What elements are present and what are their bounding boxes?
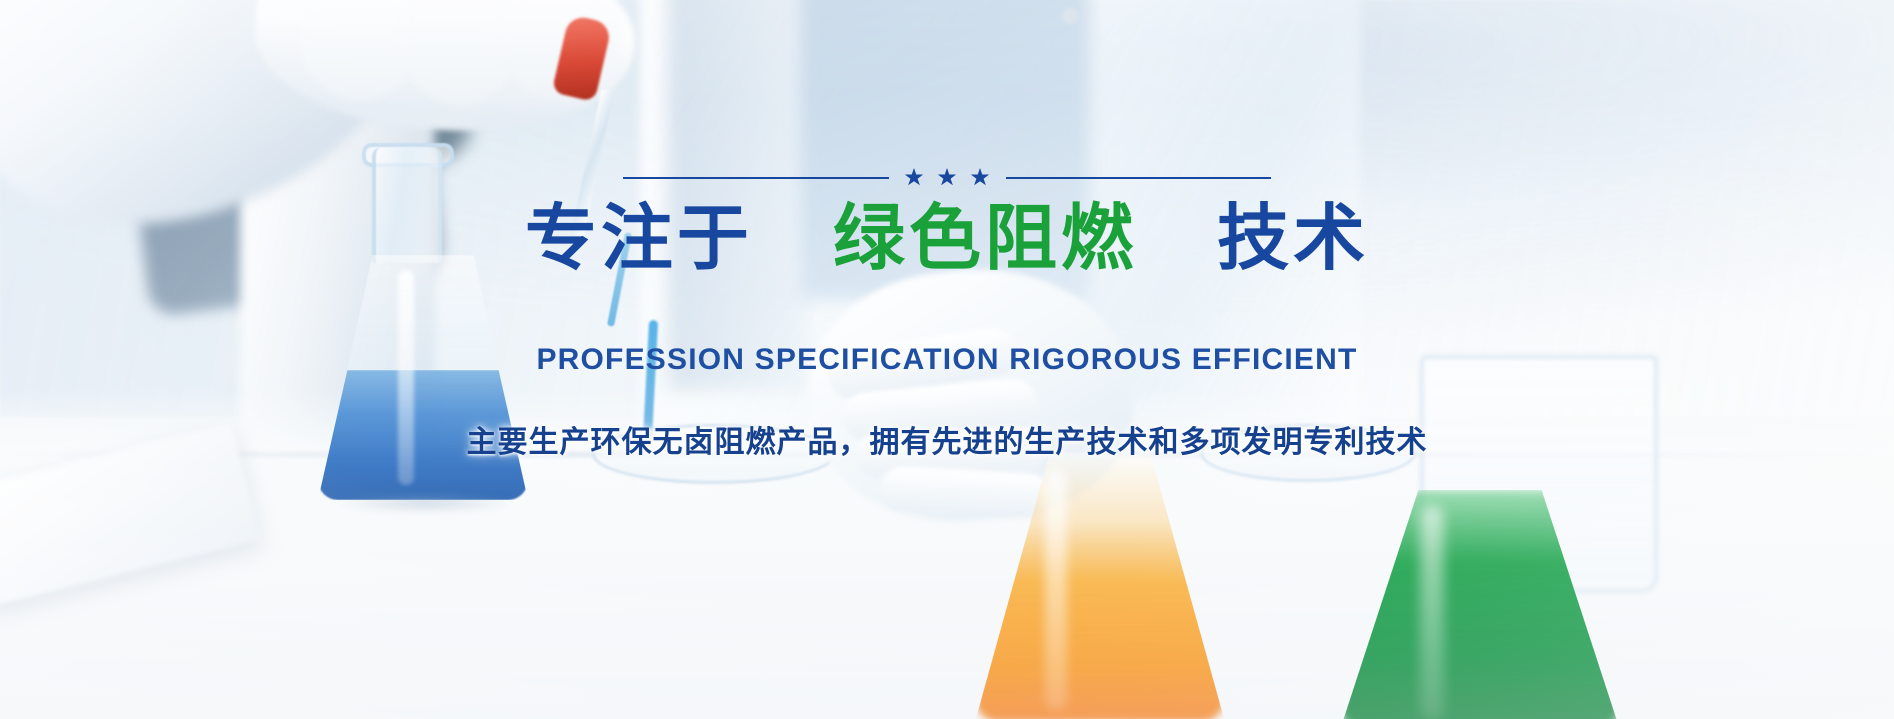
- divider-line-right: [1006, 177, 1272, 179]
- decorative-divider: [623, 168, 1271, 187]
- star-group: [905, 168, 990, 187]
- banner-headline: 专注于 绿色阻燃 技术: [525, 201, 1369, 277]
- shirt-button-icon: [1062, 8, 1078, 24]
- headline-part-3: 技术: [1217, 196, 1369, 280]
- headline-part-2: 绿色阻燃: [833, 196, 1137, 280]
- headline-part-1: 专注于: [525, 196, 753, 280]
- hero-banner: 专注于 绿色阻燃 技术 PROFESSION SPECIFICATION RIG…: [0, 0, 1894, 719]
- glove-finger: [879, 466, 1051, 519]
- flask-highlight: [1045, 470, 1067, 710]
- flask-highlight: [1420, 505, 1444, 719]
- banner-description-chinese: 主要生产环保无卤阻燃产品，拥有先进的生产技术和多项发明专利技术: [467, 417, 1428, 461]
- star-icon: [971, 168, 990, 187]
- flask-shadow: [300, 490, 550, 516]
- banner-content: 专注于 绿色阻燃 技术 PROFESSION SPECIFICATION RIG…: [0, 168, 1894, 461]
- star-icon: [905, 168, 924, 187]
- banner-subtitle-english: PROFESSION SPECIFICATION RIGOROUS EFFICI…: [536, 343, 1357, 377]
- divider-line-left: [623, 177, 889, 179]
- star-icon: [938, 168, 957, 187]
